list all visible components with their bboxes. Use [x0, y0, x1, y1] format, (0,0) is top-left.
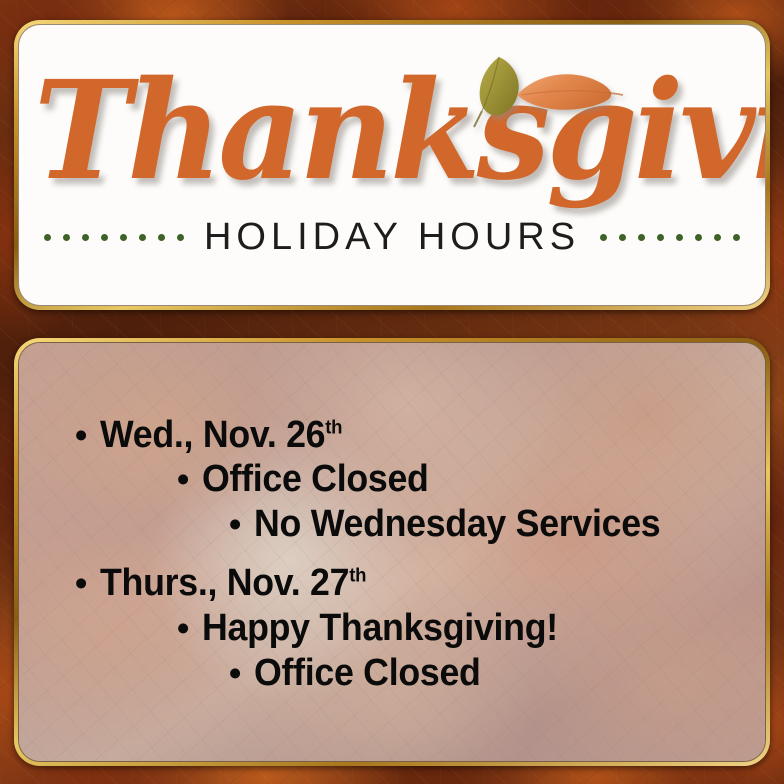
- header-panel-inner: Thanksgiving: [18, 24, 766, 306]
- bullet-icon: •: [177, 463, 189, 498]
- schedule-group: •Wed., Nov. 26th•Office Closed•No Wednes…: [53, 413, 735, 547]
- schedule-date-label: Thurs., Nov. 27th: [100, 561, 366, 606]
- bullet-icon: •: [229, 508, 241, 543]
- schedule-item-label: No Wednesday Services: [254, 502, 660, 547]
- schedule-item: •No Wednesday Services: [53, 502, 735, 547]
- rule-dot: [120, 234, 127, 241]
- bullet-icon: •: [75, 419, 87, 454]
- rule-dot: [139, 234, 146, 241]
- schedule-date-label: Wed., Nov. 26th: [100, 413, 342, 458]
- rule-dot: [619, 234, 626, 241]
- rule-dot: [82, 234, 89, 241]
- dotted-rule-left: [44, 234, 184, 241]
- schedule-item: •Office Closed: [53, 651, 735, 696]
- rule-dot: [638, 234, 645, 241]
- dotted-rule-right: [600, 234, 740, 241]
- schedule-panel-inner: •Wed., Nov. 26th•Office Closed•No Wednes…: [18, 342, 766, 762]
- rule-dot: [63, 234, 70, 241]
- rule-dot: [158, 234, 165, 241]
- schedule-item: •Happy Thanksgiving!: [53, 606, 735, 651]
- subtitle-row: HOLIDAY HOURS: [19, 216, 765, 259]
- rule-dot: [44, 234, 51, 241]
- rule-dot: [600, 234, 607, 241]
- rule-dot: [657, 234, 664, 241]
- schedule-date-heading: •Wed., Nov. 26th: [53, 413, 735, 458]
- rule-dot: [695, 234, 702, 241]
- rule-dot: [733, 234, 740, 241]
- rule-dot: [714, 234, 721, 241]
- bullet-icon: •: [229, 657, 241, 692]
- schedule-item-label: Office Closed: [202, 457, 429, 502]
- schedule-item-label: Happy Thanksgiving!: [202, 606, 558, 651]
- ordinal-suffix: th: [325, 416, 342, 438]
- bullet-icon: •: [75, 567, 87, 602]
- schedule-panel: •Wed., Nov. 26th•Office Closed•No Wednes…: [14, 338, 770, 766]
- thanksgiving-holiday-hours-poster: Thanksgiving: [0, 0, 784, 784]
- header-panel: Thanksgiving: [14, 20, 770, 310]
- schedule-item: •Office Closed: [53, 457, 735, 502]
- ordinal-suffix: th: [349, 564, 366, 586]
- page-title: Thanksgiving: [34, 63, 750, 199]
- bullet-icon: •: [177, 612, 189, 647]
- page-subtitle: HOLIDAY HOURS: [204, 216, 580, 259]
- rule-dot: [177, 234, 184, 241]
- schedule-group: •Thurs., Nov. 27th•Happy Thanksgiving!•O…: [53, 561, 735, 695]
- schedule-item-label: Office Closed: [254, 651, 481, 696]
- rule-dot: [676, 234, 683, 241]
- schedule-list: •Wed., Nov. 26th•Office Closed•No Wednes…: [19, 343, 765, 761]
- rule-dot: [101, 234, 108, 241]
- schedule-date-heading: •Thurs., Nov. 27th: [53, 561, 735, 606]
